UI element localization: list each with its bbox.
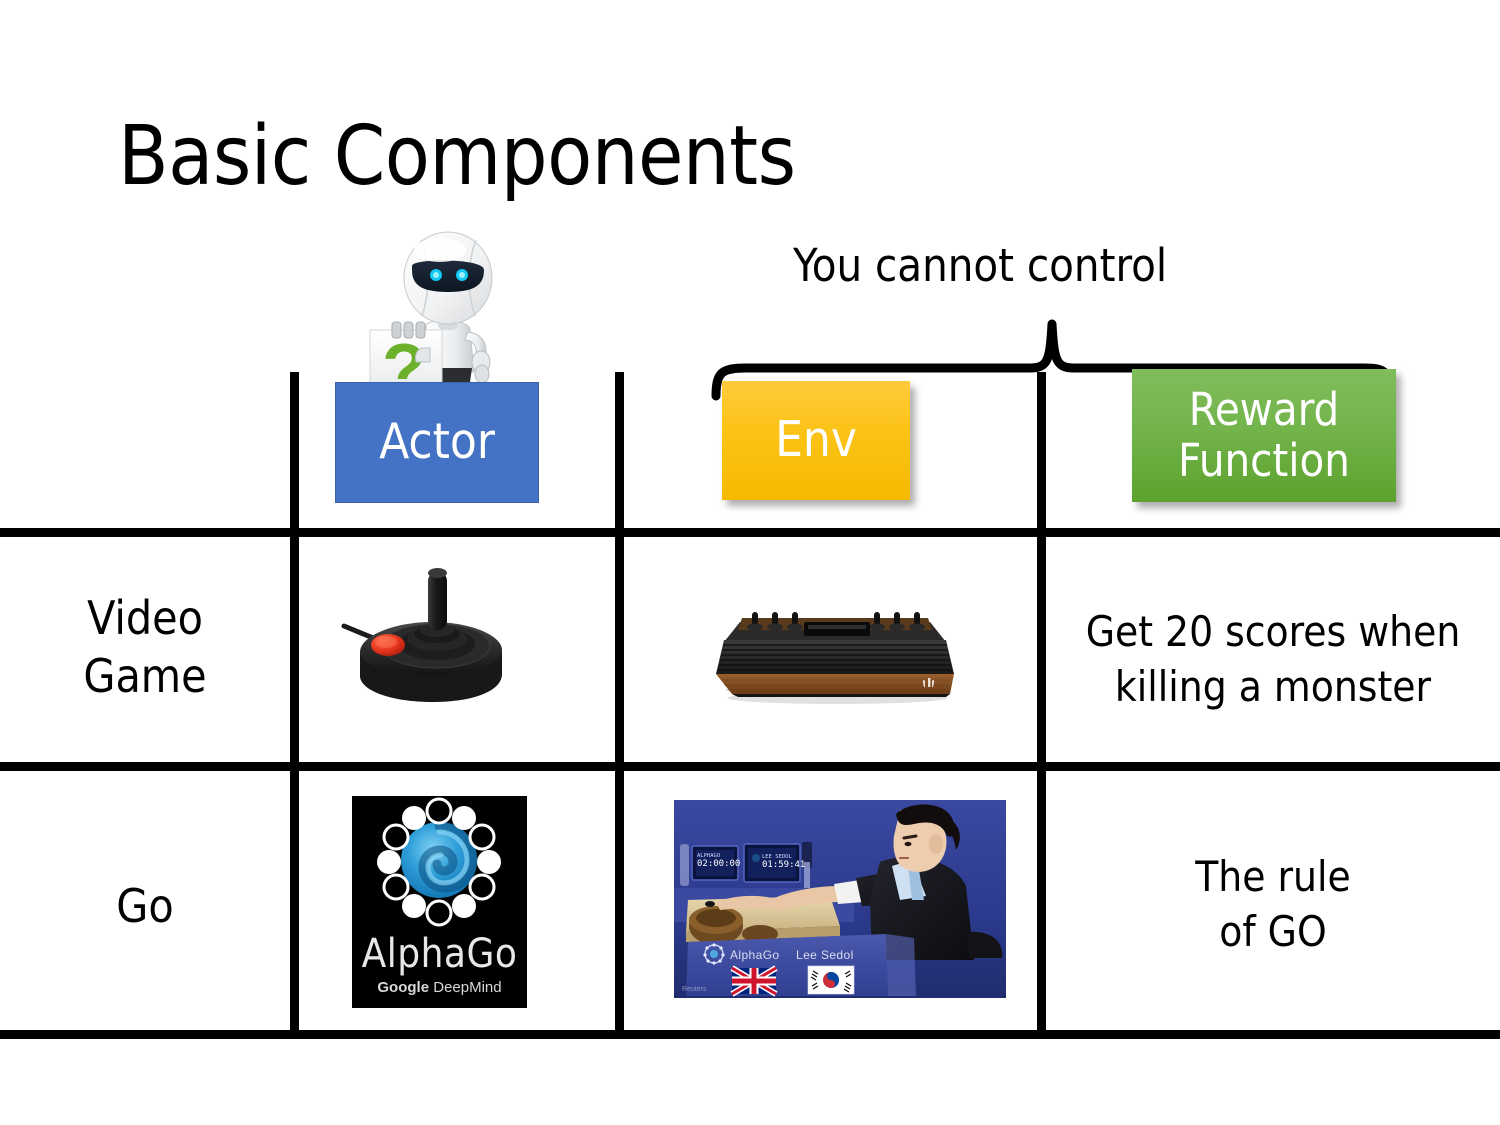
clock-lee-sedol-time: 01:59:41 [762, 860, 805, 870]
alphago-sub-brand: Google DeepMind [352, 980, 527, 995]
header-box-actor[interactable]: Actor [335, 382, 539, 503]
reward-text-go: The rule of GO [1046, 850, 1500, 959]
row-label-video-game: Video Game [0, 590, 290, 705]
table-hline-row1 [0, 762, 1500, 771]
page-title: Basic Components [118, 116, 796, 198]
alphago-wordmark: AlphaGo [352, 934, 527, 974]
cannot-control-label: You cannot control [793, 239, 1167, 292]
atari-console-icon [692, 598, 982, 708]
panel-label-alphago: AlphaGo [730, 948, 780, 962]
clock-alphago-time: 02:00:00 [697, 859, 740, 869]
clock-lee-sedol: LEE SEDOL01:59:41 [762, 854, 805, 871]
table-hline-header [0, 528, 1500, 537]
header-box-reward-label-line1: Reward [1189, 385, 1340, 435]
table-vline-col1 [290, 372, 299, 1030]
header-box-reward-label-line2: Function [1178, 436, 1350, 486]
reward-text-go-line1: The rule [1046, 850, 1500, 905]
header-box-reward-function[interactable]: Reward Function [1132, 369, 1396, 502]
table-hline-bottom [0, 1030, 1500, 1039]
panel-label-lee-sedol: Lee Sedol [796, 948, 854, 962]
row-label-video-game-line2: Game [0, 648, 290, 706]
alphago-sub-brand-deepmind: DeepMind [429, 979, 502, 996]
slide-canvas: Basic Components You cannot control [0, 0, 1500, 1125]
reward-text-go-line2: of GO [1046, 905, 1500, 960]
robot-with-question-sign-icon: ? [352, 222, 512, 397]
row-label-video-game-line1: Video [0, 590, 290, 648]
alphago-logo-icon: AlphaGo Google DeepMind [352, 796, 527, 1008]
photo-watermark: Reuters [682, 986, 707, 993]
table-vline-col2 [615, 372, 624, 1030]
header-box-actor-label: Actor [379, 415, 495, 470]
header-box-env[interactable]: Env [722, 381, 910, 500]
reward-text-video-game: Get 20 scores when killing a monster [1046, 605, 1500, 714]
reward-text-video-game-line1: Get 20 scores when [1046, 605, 1500, 660]
table-vline-col3 [1037, 372, 1046, 1030]
atari-joystick-icon [336, 560, 536, 720]
clock-alphago: ALPHAGO02:00:00 [697, 853, 740, 870]
header-box-env-label: Env [775, 413, 857, 468]
row-label-go: Go [0, 878, 290, 936]
alphago-sub-brand-google: Google [377, 979, 429, 996]
reward-text-video-game-line2: killing a monster [1046, 660, 1500, 715]
alphago-lee-sedol-match-photo-icon: ALPHAGO02:00:00 LEE SEDOL01:59:41 AlphaG… [674, 800, 1006, 998]
row-label-go-line1: Go [0, 878, 290, 936]
